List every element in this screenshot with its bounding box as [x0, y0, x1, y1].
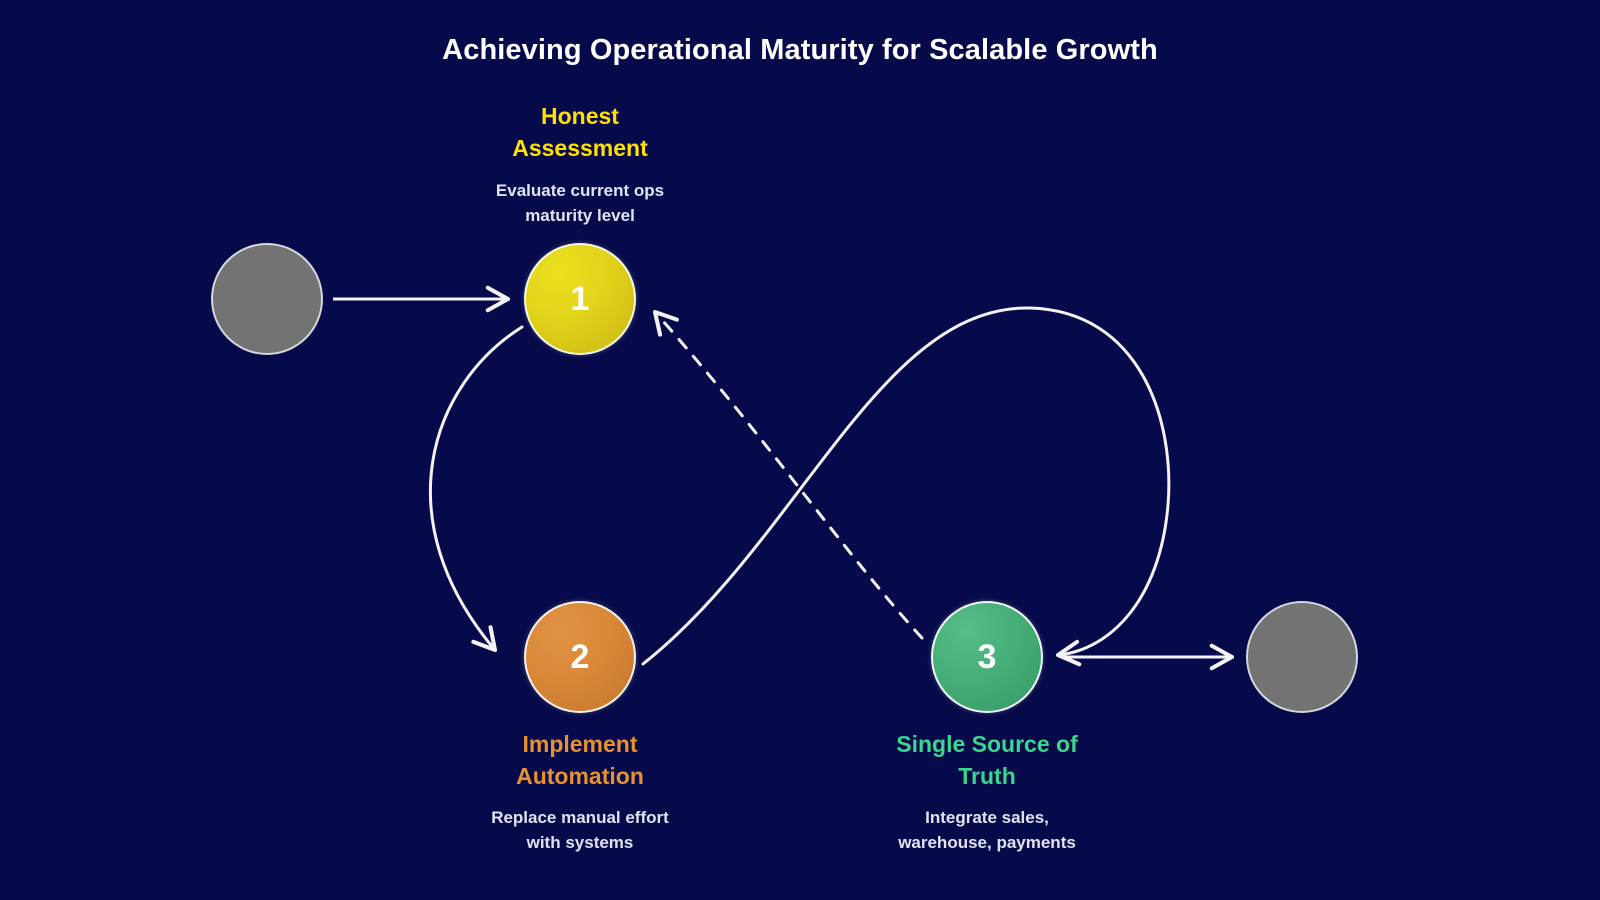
node-description-1: Evaluate current ops maturity level	[420, 178, 740, 228]
node-number-1: 1	[571, 282, 590, 316]
node-circle-2[interactable]: 2	[524, 601, 636, 713]
node-circle-3[interactable]: 3	[931, 601, 1043, 713]
node-description-2: Replace manual effort with systems	[420, 805, 740, 855]
node-description-3: Integrate sales, warehouse, payments	[827, 805, 1147, 855]
connector-node3-to-node1-dashed	[655, 312, 922, 638]
node-title-2: Implement Automation	[430, 728, 730, 792]
diagram-canvas: Achieving Operational Maturity for Scala…	[0, 0, 1600, 900]
connector-node1-to-node2	[430, 327, 522, 650]
page-title: Achieving Operational Maturity for Scala…	[0, 30, 1600, 70]
connector-node2-to-node3	[643, 308, 1169, 664]
connector-layer	[0, 0, 1600, 900]
endpoint-circle-end	[1246, 601, 1358, 713]
node-number-3: 3	[978, 640, 997, 674]
node-number-2: 2	[571, 640, 590, 674]
node-title-1: Honest Assessment	[430, 100, 730, 164]
node-title-3: Single Source of Truth	[837, 728, 1137, 792]
endpoint-circle-start	[211, 243, 323, 355]
node-circle-1[interactable]: 1	[524, 243, 636, 355]
